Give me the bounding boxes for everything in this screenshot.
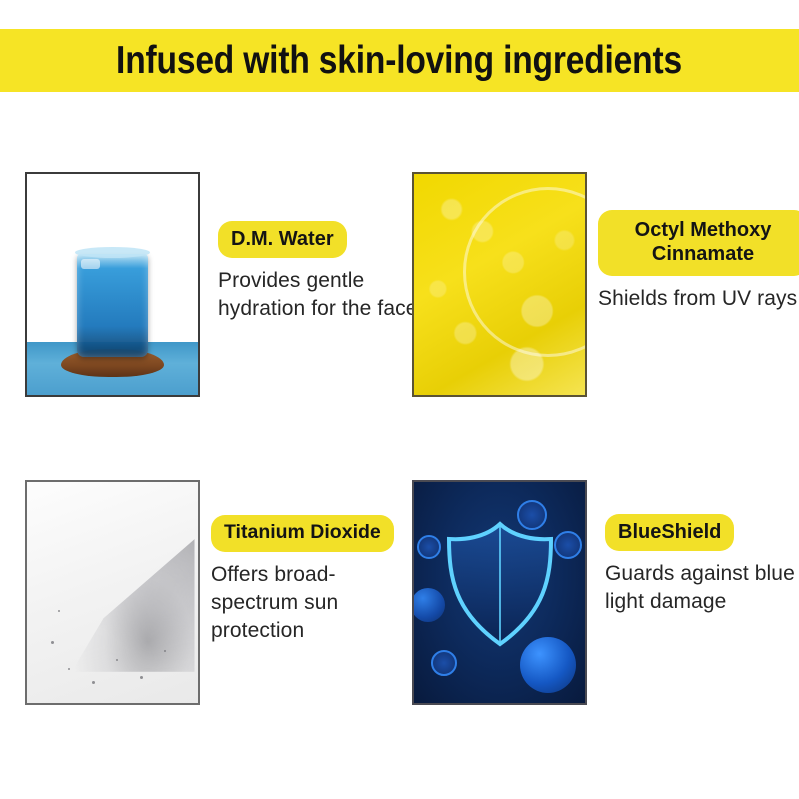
powder-speck [68,668,70,670]
blueshield-badge: BlueShield [605,514,734,551]
octyl-methoxy-cinnamate-badge: Octyl Methoxy Cinnamate [598,210,799,276]
blue-shield-illustration [414,482,585,703]
virus-particle [417,535,441,559]
blueshield-image [412,480,587,705]
blueshield-text: BlueShield Guards against blue light dam… [605,514,799,616]
page-title: Infused with skin-loving ingredients [117,39,683,83]
powder-speck [164,650,166,652]
dm-water-image [25,172,200,397]
octyl-methoxy-cinnamate-text: Octyl Methoxy Cinnamate Shields from UV … [598,210,799,313]
yellow-oil-illustration [414,174,585,395]
glass-rim [75,247,150,258]
octyl-methoxy-cinnamate-image [412,172,587,397]
powder-speck [58,610,60,612]
virus-particle [431,650,457,676]
titanium-dioxide-image [25,480,200,705]
titanium-dioxide-text: Titanium Dioxide Offers broad-spectrum s… [211,515,421,645]
titanium-dioxide-badge: Titanium Dioxide [211,515,394,552]
header-banner: Infused with skin-loving ingredients [0,29,799,92]
shield-icon [441,518,559,650]
powder-speck [116,659,118,661]
octyl-methoxy-cinnamate-description: Shields from UV rays [598,285,799,313]
powder-heap [71,531,194,672]
powder-speck [92,681,95,684]
white-powder-illustration [27,482,198,703]
dm-water-text: D.M. Water Provides gentle hydration for… [218,221,423,323]
powder-speck [140,676,143,679]
oil-droplet-arc [463,187,587,357]
ingredient-grid: D.M. Water Provides gentle hydration for… [0,92,799,799]
blueshield-description: Guards against blue light damage [605,560,799,616]
titanium-dioxide-description: Offers broad-spectrum sun protection [211,561,421,645]
dm-water-description: Provides gentle hydration for the face [218,267,423,323]
dm-water-badge: D.M. Water [218,221,347,258]
water-glass [77,254,149,358]
powder-speck [51,641,54,644]
water-glass-illustration [27,174,198,395]
